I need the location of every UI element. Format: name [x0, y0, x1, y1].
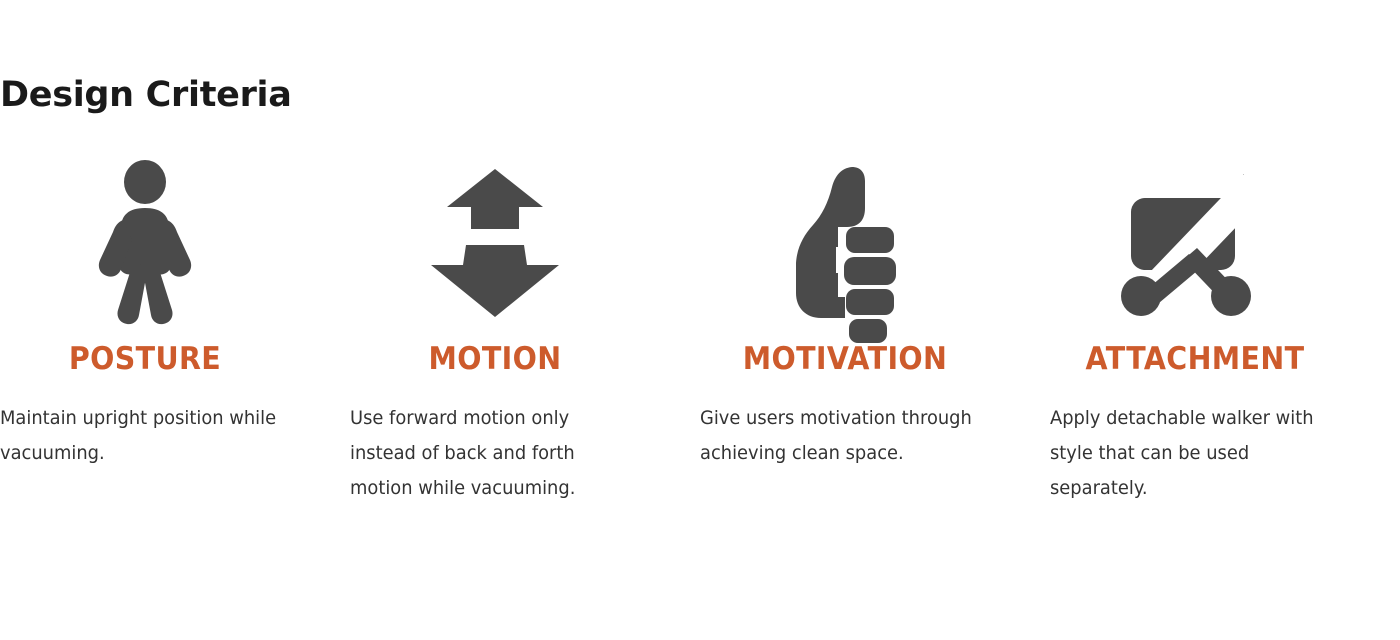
- standing-person-icon: [0, 155, 290, 330]
- criterion-body-motivation: Give users motivation through achieving …: [700, 401, 982, 471]
- criterion-body-attachment: Apply detachable walker with style that …: [1050, 401, 1332, 506]
- criterion-heading-motivation: MOTIVATION: [712, 344, 979, 375]
- criterion-column-motivation: MOTIVATION Give users motivation through…: [700, 155, 1050, 506]
- stroller-icon: [1050, 155, 1340, 330]
- design-criteria-slide: Design Criteria: [0, 0, 1400, 640]
- criterion-body-motion: Use forward motion only instead of back …: [350, 401, 632, 506]
- up-down-arrows-icon: [350, 155, 640, 330]
- criterion-heading-motion: MOTION: [362, 344, 629, 375]
- criterion-heading-posture: POSTURE: [12, 344, 279, 375]
- criterion-column-motion: MOTION Use forward motion only instead o…: [350, 155, 700, 506]
- thumbs-up-icon: [700, 155, 990, 330]
- criteria-columns: POSTURE Maintain upright position while …: [0, 155, 1400, 506]
- criterion-column-posture: POSTURE Maintain upright position while …: [0, 155, 350, 506]
- criterion-column-attachment: ATTACHMENT Apply detachable walker with …: [1050, 155, 1400, 506]
- criterion-body-posture: Maintain upright position while vacuumin…: [0, 401, 282, 471]
- page-title: Design Criteria: [0, 78, 292, 113]
- criterion-heading-attachment: ATTACHMENT: [1062, 344, 1329, 375]
